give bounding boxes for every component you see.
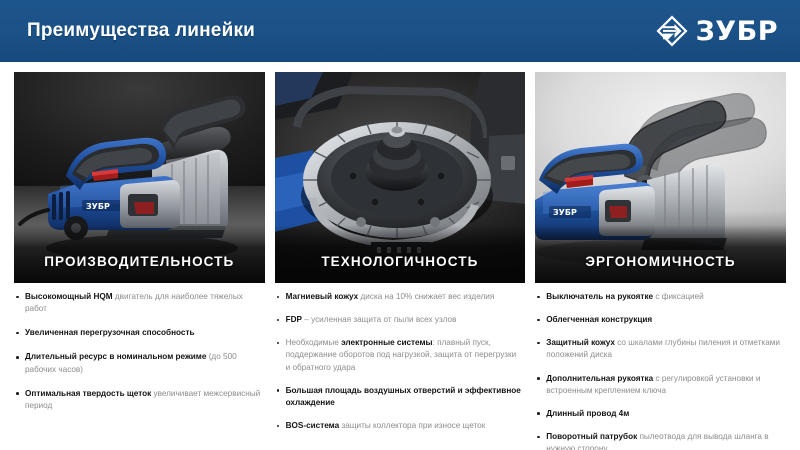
bullet-item: Длинный провод 4м bbox=[535, 408, 782, 420]
feature-card-ergonomics: ЗУБР ЭРГОНОМИЧНОСТЬ Выключатель на рукоя… bbox=[535, 72, 786, 450]
svg-text:ЗУБР: ЗУБР bbox=[86, 202, 110, 211]
bullet-item: Длительный ресурс в номинальном режиме (… bbox=[14, 351, 261, 375]
bullet-item: Высокомощный HQM двигатель для наиболее … bbox=[14, 291, 261, 315]
card-caption-ergonomics: ЭРГОНОМИЧНОСТЬ bbox=[535, 239, 786, 283]
bullet-item: Поворотный патрубок пылеотвода для вывод… bbox=[535, 431, 782, 450]
bullet-item: BOS-система защиты коллектора при износе… bbox=[275, 420, 522, 432]
zubr-diamond-icon bbox=[655, 14, 689, 48]
svg-text:ЗУБР: ЗУБР bbox=[553, 208, 577, 217]
card-caption-technology: ТЕХНОЛОГИЧНОСТЬ bbox=[275, 239, 526, 283]
card-photo-performance: ЗУБР ПРОИЗВОДИТЕЛЬНОСТЬ bbox=[14, 72, 265, 283]
feature-card-technology: ТЕХНОЛОГИЧНОСТЬ Магниевый кожух диска на… bbox=[275, 72, 526, 450]
bullet-list-ergonomics: Выключатель на рукоятке с фиксацией Обле… bbox=[535, 291, 786, 450]
bullet-list-technology: Магниевый кожух диска на 10% снижает вес… bbox=[275, 291, 526, 432]
card-caption-performance: ПРОИЗВОДИТЕЛЬНОСТЬ bbox=[14, 239, 265, 283]
bullet-item: Оптимальная твердость щеток увеличивает … bbox=[14, 388, 261, 412]
bullet-list-performance: Высокомощный HQM двигатель для наиболее … bbox=[14, 291, 265, 412]
bullet-item: Большая площадь воздушных отверстий и эф… bbox=[275, 385, 522, 409]
bullet-item: Выключатель на рукоятке с фиксацией bbox=[535, 291, 782, 303]
card-photo-technology: ТЕХНОЛОГИЧНОСТЬ bbox=[275, 72, 526, 283]
brand-logo: ЗУБР bbox=[655, 14, 778, 48]
card-photo-ergonomics: ЗУБР ЭРГОНОМИЧНОСТЬ bbox=[535, 72, 786, 283]
feature-card-performance: ЗУБР ПРОИЗВОДИТЕЛЬНОСТЬ Высокомощный HQM… bbox=[14, 72, 265, 450]
bullet-item: Защитный кожух со шкалами глубины пилени… bbox=[535, 337, 782, 361]
bullet-item: Увеличенная перегрузочная способность bbox=[14, 327, 261, 339]
bullet-item: Облегченная конструкция bbox=[535, 314, 782, 326]
brand-wordmark: ЗУБР bbox=[696, 18, 778, 45]
page-title: Преимущества линейки bbox=[27, 20, 255, 42]
bullet-item: Дополнительная рукоятка с регулировкой у… bbox=[535, 373, 782, 397]
bullet-item: Магниевый кожух диска на 10% снижает вес… bbox=[275, 291, 522, 303]
feature-card-grid: ЗУБР ПРОИЗВОДИТЕЛЬНОСТЬ Высокомощный HQM… bbox=[14, 72, 786, 450]
bullet-item: FDP – усиленная защита от пыли всех узло… bbox=[275, 314, 522, 326]
slide: Преимущества линейки ЗУБР bbox=[0, 0, 800, 450]
bullet-item: Необходимые электронные системы: плавный… bbox=[275, 337, 522, 373]
slide-header: Преимущества линейки ЗУБР bbox=[0, 0, 800, 62]
